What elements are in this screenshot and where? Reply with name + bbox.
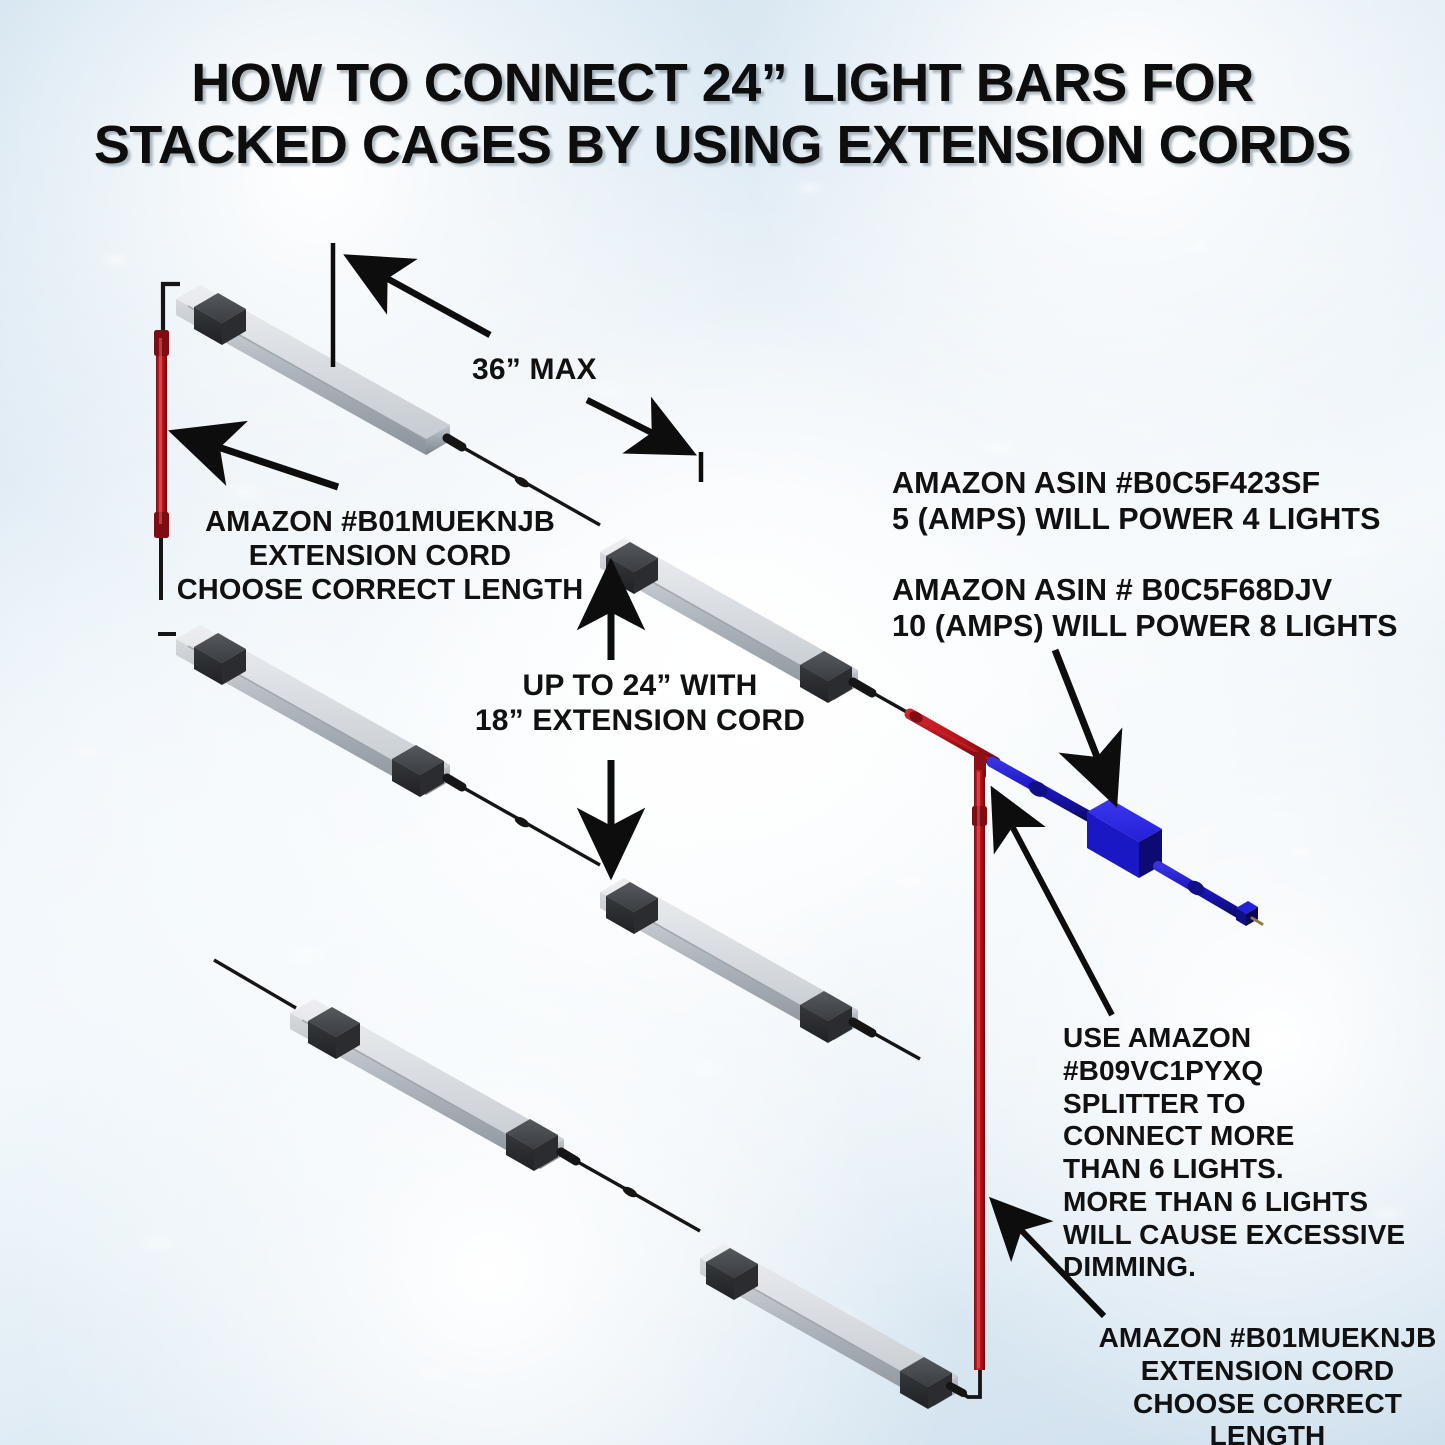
extension-cord-right-red xyxy=(907,709,995,1370)
light-bar-3 xyxy=(176,625,450,797)
cord-row1-out xyxy=(853,682,912,715)
label-row-spacing: UP TO 24” WITH 18” EXTENSION CORD xyxy=(470,668,810,738)
arrow-power-adapter xyxy=(1055,650,1114,800)
power-adapter-plug-icon xyxy=(1236,901,1262,926)
arrow-36max-lower xyxy=(587,400,690,452)
page-title-line-2: STACKED CAGES BY USING EXTENSION CORDS xyxy=(0,114,1445,176)
light-bar-5 xyxy=(290,999,564,1171)
label-extension-cord-left: AMAZON #B01MUEKNJB EXTENSION CORD CHOOSE… xyxy=(160,506,600,608)
label-extension-cord-bottom-right: AMAZON #B01MUEKNJB EXTENSION CORD CHOOSE… xyxy=(1090,1322,1445,1445)
page-title: HOW TO CONNECT 24” LIGHT BARS FOR STACKE… xyxy=(0,52,1445,176)
arrow-extension-cord-left xyxy=(176,433,338,487)
cord-row3-left-lead xyxy=(214,960,296,1008)
label-power-supplies: AMAZON ASIN #B0C5F423SF 5 (AMPS) WILL PO… xyxy=(892,466,1412,644)
infographic-page: HOW TO CONNECT 24” LIGHT BARS FOR STACKE… xyxy=(0,0,1445,1445)
label-splitter: USE AMAZON #B09VC1PYXQ SPLITTER TO CONNE… xyxy=(1063,1022,1445,1284)
cord-row2-mid xyxy=(447,778,600,865)
power-adapter-brick xyxy=(1087,799,1162,878)
page-title-line-1: HOW TO CONNECT 24” LIGHT BARS FOR xyxy=(0,52,1445,114)
power-adapter-blue xyxy=(992,762,1262,926)
cord-row2-out xyxy=(853,1022,920,1059)
cord-row3-mid xyxy=(561,1152,700,1231)
arrow-36max-upper xyxy=(350,258,490,335)
callout-arrows xyxy=(176,243,1114,1316)
light-bar-4 xyxy=(600,878,858,1043)
light-bar-6 xyxy=(700,1244,958,1409)
light-bar-row-1 xyxy=(163,284,912,715)
label-max-spacing: 36” MAX xyxy=(472,352,597,387)
light-bar-1 xyxy=(176,285,450,455)
